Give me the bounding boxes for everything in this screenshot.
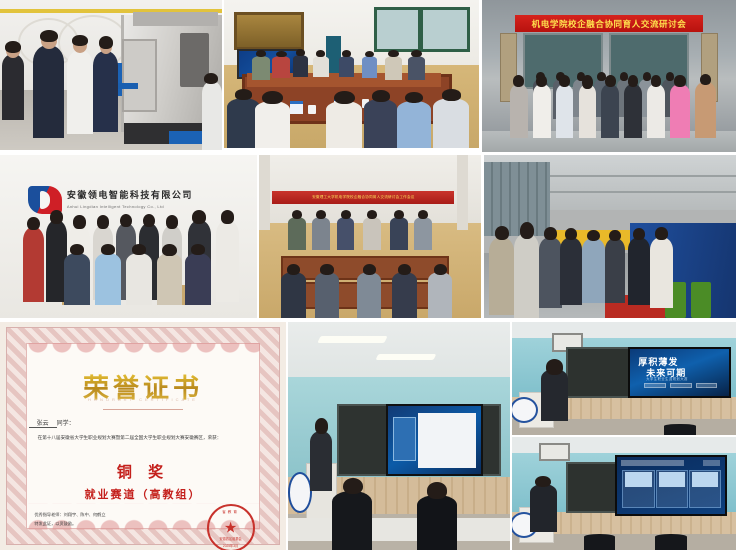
hair <box>132 244 146 255</box>
visitor-woman-left <box>2 54 24 120</box>
slide-card <box>656 470 688 508</box>
display-screen: 厚积薄发 未来可期 大学生职业生涯规划大赛 <box>628 347 731 398</box>
audience-student <box>417 495 457 550</box>
hair <box>442 89 461 101</box>
hair <box>204 73 218 84</box>
seminar-attendee <box>337 217 355 250</box>
panel-factory-visit-cnc <box>0 0 222 150</box>
green-machinery-part <box>691 282 711 318</box>
school-crest-icon <box>288 472 312 512</box>
hair <box>674 75 685 86</box>
audience-head <box>584 534 615 550</box>
attendee-far-row <box>408 56 426 80</box>
tour-guide <box>650 237 673 309</box>
certificate-track: 就业赛道（高教组） <box>0 486 286 502</box>
hair <box>276 51 287 58</box>
group-member-front-pink <box>670 84 690 139</box>
attendee-near-row <box>255 101 291 148</box>
panel-classroom-presentation-female: 厚积薄发 未来可期 大学生职业生涯规划大赛 <box>512 322 736 435</box>
seminar-attendee <box>363 217 381 250</box>
attendee-near-row <box>433 98 469 148</box>
presenter-male <box>530 484 557 531</box>
hair <box>559 75 570 87</box>
hair <box>5 41 21 53</box>
hair <box>99 36 113 49</box>
certificate-divider <box>103 409 183 410</box>
seminar-attendee-front <box>428 272 452 318</box>
group-member-front <box>556 84 574 139</box>
hair <box>72 35 87 46</box>
hair <box>343 478 363 495</box>
seal-arc-bottom: 安徽赛区组委会 <box>209 536 253 541</box>
display-screen <box>615 455 727 516</box>
hair <box>292 210 302 219</box>
seminar-banner-text: 安徽理工大学机电学院校企融合协同育人交流研讨会工作会议 <box>312 195 414 200</box>
group-member-front-tan <box>695 82 715 138</box>
hair <box>628 75 639 87</box>
hair <box>50 210 62 224</box>
slide-chip <box>696 383 718 388</box>
wall-column <box>457 155 468 230</box>
certificate-closing: 特发此证，以资鼓励。 <box>34 520 105 528</box>
student-right-edge <box>202 81 222 150</box>
slide-subtitle: 大学生职业生涯规划大赛 <box>646 376 688 381</box>
hair <box>341 210 351 219</box>
hair <box>651 75 662 87</box>
slide-chip <box>670 383 692 388</box>
certificate-subtitle-en: HONORARY CERTIFICATE <box>0 397 286 402</box>
hair <box>334 91 355 105</box>
audience-student <box>332 491 372 550</box>
hair <box>427 482 447 498</box>
seated-person <box>64 253 90 305</box>
tour-visitor <box>489 237 514 315</box>
seal-date: 2025年3月 <box>209 543 253 548</box>
certificate-seal: 省教育 ★ 安徽赛区组委会 2025年3月 <box>207 504 255 550</box>
hair <box>101 244 115 255</box>
seminar-attendee-front <box>392 272 416 318</box>
attendee-far-row <box>272 56 290 78</box>
slide-document <box>418 413 476 468</box>
hair <box>495 226 509 240</box>
hair <box>666 72 675 81</box>
slide-chip <box>644 383 666 388</box>
hair <box>372 90 390 102</box>
paper-cup <box>308 105 316 114</box>
visitor-woman-navy <box>93 51 117 132</box>
hair <box>287 264 300 275</box>
attendee-far-row <box>385 56 403 80</box>
seminar-attendee-front <box>357 272 381 318</box>
certificate-recipient-name: 张云 <box>29 421 57 428</box>
attendee-far-row <box>252 56 270 80</box>
visitor-man-white-shirt <box>67 50 94 134</box>
hair <box>609 230 620 242</box>
hair <box>582 75 593 89</box>
slide-header <box>621 460 683 465</box>
hair <box>221 210 235 224</box>
framed-painting <box>234 12 304 51</box>
slide-portrait-photo <box>393 417 416 461</box>
company-name-cn: 安徽领电智能科技有限公司 <box>67 188 193 201</box>
hair <box>700 74 711 86</box>
hair <box>363 264 376 275</box>
hair <box>320 264 333 275</box>
cnc-top-panel <box>133 12 217 26</box>
panel-company-logo-wall-group-photo: 安徽领电智能科技有限公司 Anhui Lingdian Intelligent … <box>0 155 257 318</box>
hair <box>536 75 547 87</box>
ceiling-light <box>375 354 435 360</box>
hair <box>394 210 404 219</box>
photo-collage: 机电学院校企融合协同育人交流研讨会 安徽领电智能科技有限公司 Anhui Lin… <box>0 0 736 550</box>
group-member-front <box>601 84 619 139</box>
panel-classroom-presentation-male <box>512 437 736 550</box>
event-banner: 机电学院校企融合协同育人交流研讨会 <box>515 15 703 32</box>
seal-star-icon: ★ <box>224 521 237 536</box>
presenter <box>310 431 332 490</box>
student-standing <box>23 227 44 302</box>
slide-card-image <box>692 472 719 486</box>
hair <box>655 227 668 240</box>
control-cabinet <box>122 39 157 112</box>
attendee-near-row <box>364 99 397 148</box>
tour-visitor <box>539 237 562 309</box>
attendee-far-row <box>362 56 377 78</box>
hair <box>342 50 351 57</box>
hair <box>388 50 399 57</box>
hair <box>262 91 283 104</box>
seal-arc-top: 省教育 <box>209 510 253 515</box>
name-card <box>290 101 303 114</box>
event-banner-text: 机电学院校企融合协同育人交流研讨会 <box>532 18 687 30</box>
hair <box>191 244 205 255</box>
seminar-attendee-front <box>315 272 339 318</box>
seminar-banner: 安徽理工大学机电学院校企融合协同育人交流研讨会工作会议 <box>272 191 454 204</box>
certificate-recipient-line: 张云同学： <box>29 418 75 427</box>
group-member-front <box>510 84 528 139</box>
window <box>420 7 469 51</box>
hair <box>316 210 326 219</box>
window <box>374 7 421 51</box>
hair <box>546 359 563 375</box>
hair <box>73 215 85 228</box>
slide-card-image <box>625 472 652 486</box>
hair <box>315 418 328 433</box>
hair <box>633 228 646 240</box>
hair <box>296 49 305 56</box>
attendee-far-row <box>293 55 308 77</box>
certificate-body-text: 在第十八届安徽省大学生职业规划大赛暨第二届全国大学生职业规划大赛安徽赛区，荣获： <box>29 434 264 442</box>
hair <box>544 227 557 240</box>
ceiling-light <box>317 336 387 343</box>
seated-person <box>126 253 152 305</box>
hair <box>398 264 411 275</box>
hair <box>166 215 178 228</box>
seated-person <box>185 253 211 305</box>
seminar-attendee <box>312 217 330 250</box>
seated-person <box>157 253 183 305</box>
hair <box>162 244 176 257</box>
visitor-man-suit <box>33 45 64 138</box>
wall-clock-icon <box>539 443 570 462</box>
group-member-front <box>647 84 665 139</box>
tour-guide <box>628 237 651 305</box>
hair <box>405 92 423 103</box>
attendee-near-row <box>397 101 430 148</box>
hair <box>367 210 377 219</box>
student-desks <box>288 518 510 541</box>
hair <box>120 214 132 228</box>
audience-head <box>664 424 695 435</box>
hair <box>535 476 551 487</box>
company-name-en: Anhui Lingdian Intelligent Technology Co… <box>67 204 164 209</box>
audience-head <box>655 534 686 550</box>
ceiling <box>288 322 510 381</box>
seminar-attendee <box>288 217 306 250</box>
hair <box>520 222 534 239</box>
hair <box>316 50 325 57</box>
certificate-footer: 优秀指导老师：刘翔宇、陈中、何鹤立 特发此证，以资鼓励。 <box>34 511 105 528</box>
tour-visitor <box>605 238 625 303</box>
hair <box>418 210 428 219</box>
attendee-far-row <box>313 56 328 77</box>
presenter-female <box>541 369 568 421</box>
hair <box>27 217 39 230</box>
panel-group-photo-red-banner: 机电学院校企融合协同育人交流研讨会 <box>482 0 736 152</box>
panel-conference-room-meeting <box>224 0 479 148</box>
hair <box>235 89 253 100</box>
certificate-advisors: 优秀指导老师：刘翔宇、陈中、何鹤立 <box>34 511 105 519</box>
hair <box>97 215 109 228</box>
group-member-front <box>533 84 551 139</box>
slide-card <box>622 470 654 508</box>
panel-factory-workshop-tour <box>484 155 736 318</box>
display-screen <box>386 404 483 476</box>
certificate-recipient-suffix: 同学： <box>57 421 75 427</box>
slide-card <box>689 470 721 508</box>
slide-card-image <box>659 472 686 486</box>
slide-logo <box>703 460 720 465</box>
attendee-near-row <box>326 101 362 148</box>
hair <box>70 244 84 255</box>
seminar-attendee <box>390 217 408 250</box>
group-member-front <box>579 84 597 139</box>
panel-honor-certificate: 荣誉证书 HONORARY CERTIFICATE 张云同学： 在第十八届安徽省… <box>0 322 286 550</box>
seated-person <box>95 253 121 305</box>
hair <box>143 214 155 228</box>
tour-visitor <box>582 238 605 303</box>
hair <box>513 75 524 87</box>
panel-seminar-room-red-banner: 安徽理工大学机电学院校企融合协同育人交流研讨会工作会议 <box>259 155 481 318</box>
hair <box>365 51 374 58</box>
tour-visitor <box>560 237 583 305</box>
group-member-front <box>624 84 642 139</box>
hair <box>434 264 447 275</box>
hair <box>565 228 578 240</box>
student-standing <box>216 220 239 302</box>
hair <box>192 210 206 224</box>
wall-column <box>259 155 270 230</box>
certificate-award-level: 铜 奖 <box>0 461 286 482</box>
seminar-attendee-front <box>281 272 305 318</box>
attendee-far-row <box>339 56 354 77</box>
hair <box>587 230 600 242</box>
hair <box>605 75 616 87</box>
hair <box>411 50 422 57</box>
window-wall <box>484 162 550 237</box>
hair <box>40 30 57 42</box>
panel-classroom-defense-presentation <box>288 322 510 550</box>
seminar-attendee <box>414 217 432 250</box>
tour-visitor <box>514 233 539 318</box>
hair <box>256 50 267 57</box>
